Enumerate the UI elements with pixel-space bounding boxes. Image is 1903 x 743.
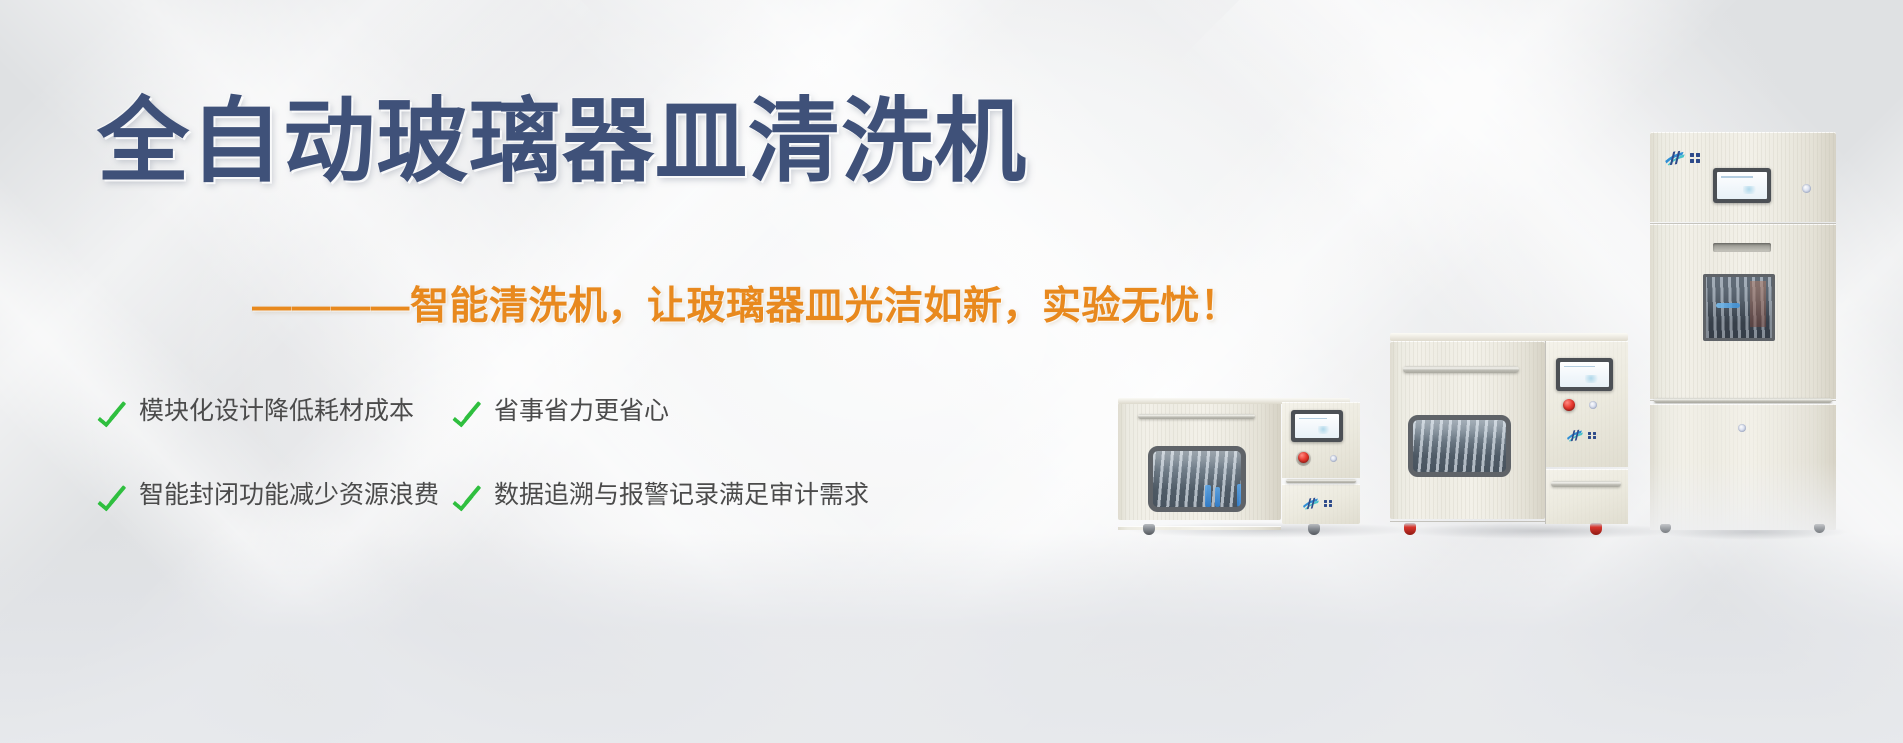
h-logo-icon	[1566, 429, 1584, 442]
chamber-viewing-window	[1703, 274, 1775, 341]
door-handle	[1138, 414, 1255, 419]
chamber-viewing-window	[1148, 446, 1246, 512]
h-logo-icon	[1664, 150, 1686, 166]
control-touchscreen[interactable]	[1713, 168, 1771, 203]
emergency-stop-button[interactable]	[1298, 452, 1309, 463]
indicator-light	[1802, 184, 1811, 193]
product-hero-banner: 全自动玻璃器皿清洗机 ————智能清洗机，让玻璃器皿光洁如新，实验无忧！ 模块化…	[0, 0, 1903, 743]
caster-wheel	[1590, 523, 1602, 535]
indicator-light	[1330, 455, 1337, 462]
control-touchscreen[interactable]	[1556, 358, 1613, 391]
h-logo-icon	[1302, 497, 1320, 510]
product-image-undercounter-washer	[1118, 398, 1423, 530]
indicator-light	[1589, 401, 1597, 409]
logo-dots-icon	[1690, 153, 1700, 163]
product-image-tower-washer-dryer	[1650, 132, 1855, 532]
door-handle	[1403, 366, 1519, 373]
control-touchscreen[interactable]	[1291, 410, 1343, 442]
brand-logo	[1302, 497, 1332, 510]
logo-dots-icon	[1324, 500, 1332, 508]
brand-logo	[1664, 150, 1700, 166]
chamber-viewing-window	[1408, 415, 1511, 477]
brand-logo	[1566, 429, 1596, 442]
vent-slot	[1713, 243, 1771, 252]
emergency-stop-button[interactable]	[1563, 399, 1575, 411]
logo-dots-icon	[1588, 432, 1596, 440]
product-photo-group	[0, 0, 1903, 743]
product-image-freestanding-washer	[1390, 333, 1690, 531]
indicator-light	[1738, 424, 1746, 432]
caster-wheel	[1404, 523, 1416, 535]
